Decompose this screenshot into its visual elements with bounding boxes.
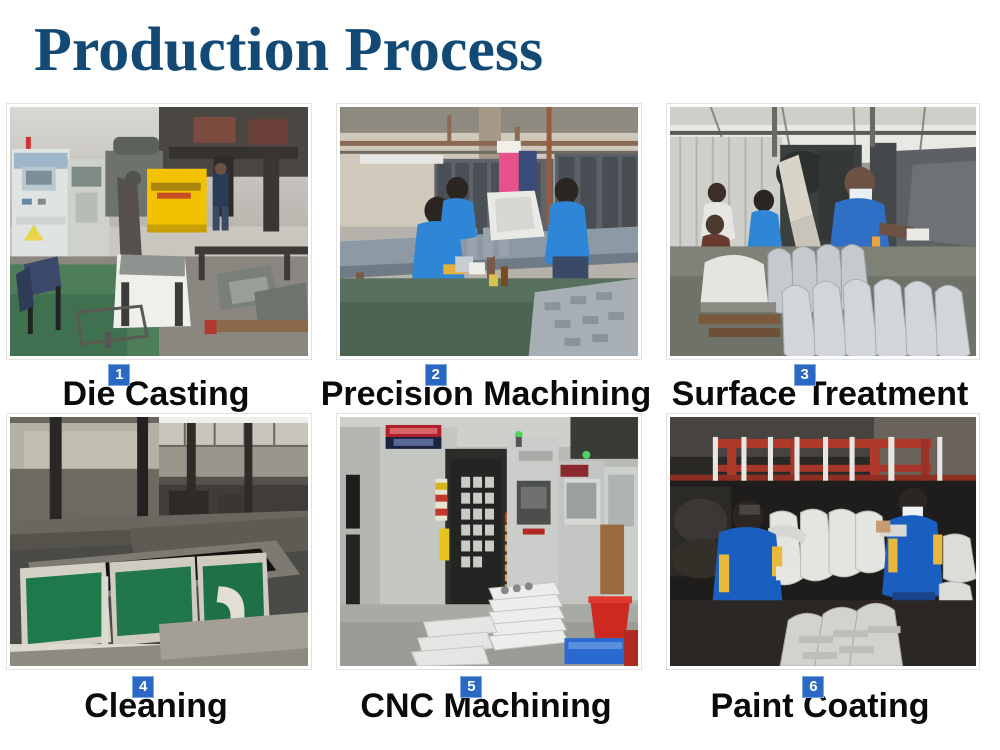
process-step-die-casting[interactable]: 1 Die Casting bbox=[0, 98, 330, 408]
step-caption: 1 Die Casting bbox=[0, 364, 312, 408]
step-label: Cleaning bbox=[84, 687, 228, 725]
process-step-cnc-machining[interactable]: 5 CNC Machining bbox=[330, 408, 660, 718]
photo-frame bbox=[6, 103, 312, 360]
step-caption: 3 Surface Treatment bbox=[660, 364, 980, 408]
photo-frame bbox=[6, 413, 312, 670]
step-label: Surface Treatment bbox=[672, 375, 969, 413]
page-title: Production Process bbox=[34, 14, 543, 86]
step-number-badge: 4 bbox=[132, 676, 154, 698]
process-step-cleaning[interactable]: 4 Cleaning bbox=[0, 408, 330, 718]
step-label: Precision Machining bbox=[321, 375, 652, 413]
process-steps-grid: 1 Die Casting bbox=[0, 98, 1000, 718]
step-caption: 6 Paint Coating bbox=[660, 676, 980, 720]
step-number-badge: 2 bbox=[425, 364, 447, 386]
surface-treatment-photo bbox=[670, 107, 976, 356]
step-label: Die Casting bbox=[62, 375, 249, 413]
step-caption: 2 Precision Machining bbox=[330, 364, 642, 408]
step-number-badge: 5 bbox=[460, 676, 482, 698]
die-casting-photo bbox=[10, 107, 308, 356]
paint-coating-photo bbox=[670, 417, 976, 666]
cnc-machining-photo bbox=[340, 417, 638, 666]
process-step-surface-treatment[interactable]: 3 Surface Treatment bbox=[660, 98, 1000, 408]
process-step-precision-machining[interactable]: 2 Precision Machining bbox=[330, 98, 660, 408]
photo-frame bbox=[336, 413, 642, 670]
step-number-badge: 3 bbox=[794, 364, 816, 386]
step-label: CNC Machining bbox=[360, 687, 611, 725]
photo-frame bbox=[666, 413, 980, 670]
step-caption: 5 CNC Machining bbox=[330, 676, 642, 720]
step-caption: 4 Cleaning bbox=[0, 676, 312, 720]
process-step-paint-coating[interactable]: 6 Paint Coating bbox=[660, 408, 1000, 718]
cleaning-photo bbox=[10, 417, 308, 666]
step-number-badge: 1 bbox=[108, 364, 130, 386]
precision-machining-photo bbox=[340, 107, 638, 356]
photo-frame bbox=[336, 103, 642, 360]
photo-frame bbox=[666, 103, 980, 360]
step-number-badge: 6 bbox=[802, 676, 824, 698]
